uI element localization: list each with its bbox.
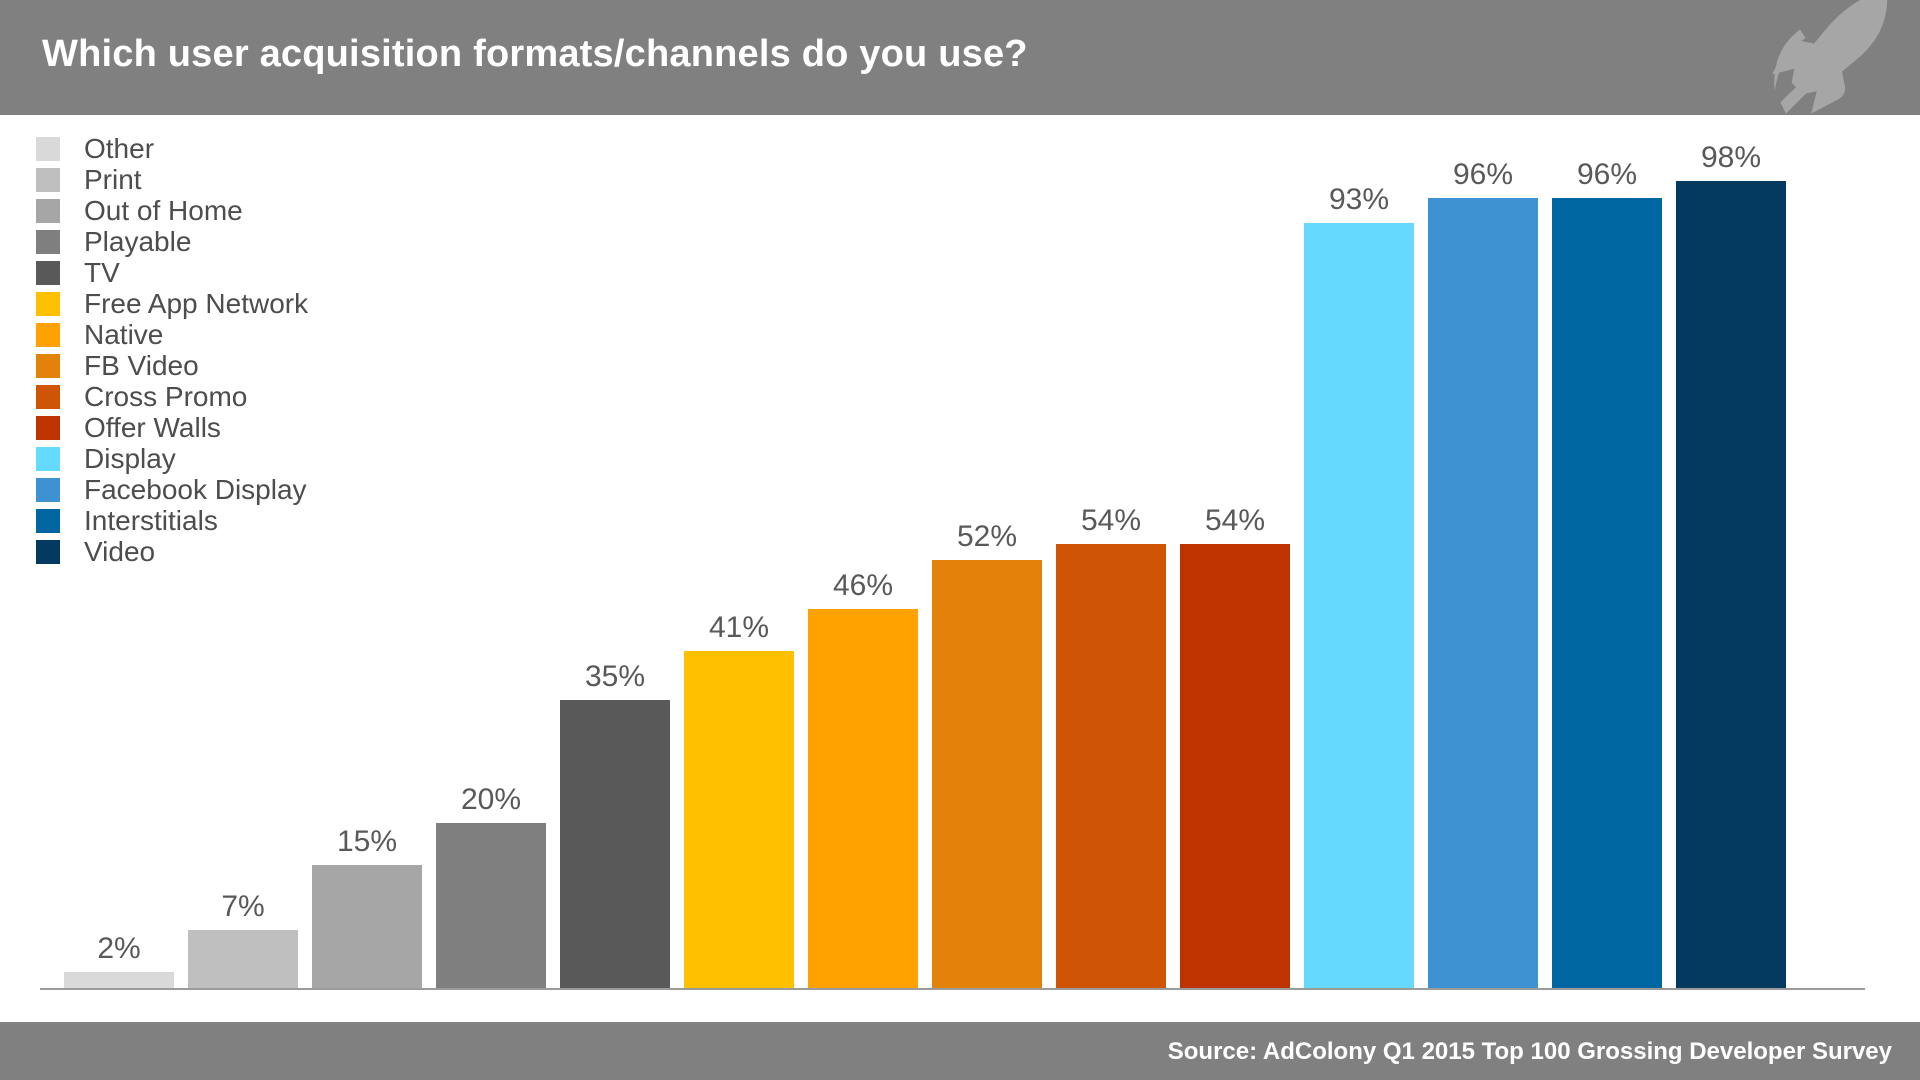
bar-video[interactable] <box>1676 181 1786 988</box>
bar-fb-video[interactable] <box>932 560 1042 988</box>
legend-item-other[interactable]: Other <box>36 133 456 164</box>
rocket-icon <box>1758 0 1898 115</box>
legend-swatch-icon <box>36 416 60 440</box>
bar-native[interactable] <box>808 609 918 988</box>
legend-item-label: Print <box>84 164 142 195</box>
bar-value-label-other: 2% <box>64 932 174 966</box>
bar-display[interactable] <box>1304 223 1414 988</box>
legend-item-out-of-home[interactable]: Out of Home <box>36 195 456 226</box>
legend-item-label: TV <box>84 257 120 288</box>
page-title: Which user acquisition formats/channels … <box>42 33 1028 76</box>
legend-item-tv[interactable]: TV <box>36 257 456 288</box>
bar-value-label-print: 7% <box>188 890 298 924</box>
legend-item-fb-video[interactable]: FB Video <box>36 350 456 381</box>
bar-value-label-playable: 20% <box>436 783 546 817</box>
legend-item-label: Facebook Display <box>84 474 307 505</box>
legend-item-label: Cross Promo <box>84 381 247 412</box>
chart-plot-area: Other Print Out of Home Playable TV Free… <box>0 115 1920 1022</box>
bar-value-label-offer-walls: 54% <box>1180 504 1290 538</box>
legend-swatch-icon <box>36 137 60 161</box>
bar-cross-promo[interactable] <box>1056 544 1166 988</box>
bar-value-label-free-app-network: 41% <box>684 611 794 645</box>
bar-value-label-video: 98% <box>1676 141 1786 175</box>
bar-value-label-interstitials: 96% <box>1552 158 1662 192</box>
legend-swatch-icon <box>36 478 60 502</box>
legend-item-playable[interactable]: Playable <box>36 226 456 257</box>
legend-item-label: Display <box>84 443 176 474</box>
bar-value-label-display: 93% <box>1304 183 1414 217</box>
chart-legend: Other Print Out of Home Playable TV Free… <box>36 133 456 567</box>
legend-item-cross-promo[interactable]: Cross Promo <box>36 381 456 412</box>
legend-item-offer-walls[interactable]: Offer Walls <box>36 412 456 443</box>
legend-item-video[interactable]: Video <box>36 536 456 567</box>
legend-item-native[interactable]: Native <box>36 319 456 350</box>
legend-swatch-icon <box>36 261 60 285</box>
bar-value-label-out-of-home: 15% <box>312 825 422 859</box>
chart-baseline <box>40 988 1865 990</box>
legend-item-label: Free App Network <box>84 288 308 319</box>
legend-swatch-icon <box>36 540 60 564</box>
legend-item-label: Video <box>84 536 155 567</box>
bar-offer-walls[interactable] <box>1180 544 1290 988</box>
legend-swatch-icon <box>36 354 60 378</box>
bar-value-label-facebook-display: 96% <box>1428 158 1538 192</box>
bar-interstitials[interactable] <box>1552 198 1662 988</box>
legend-item-label: Out of Home <box>84 195 243 226</box>
legend-item-display[interactable]: Display <box>36 443 456 474</box>
legend-swatch-icon <box>36 199 60 223</box>
bar-playable[interactable] <box>436 823 546 988</box>
slide-canvas: Which user acquisition formats/channels … <box>0 0 1920 1080</box>
legend-item-print[interactable]: Print <box>36 164 456 195</box>
bar-out-of-home[interactable] <box>312 865 422 988</box>
legend-item-label: Native <box>84 319 163 350</box>
legend-swatch-icon <box>36 292 60 316</box>
bar-free-app-network[interactable] <box>684 651 794 988</box>
legend-item-label: Interstitials <box>84 505 218 536</box>
legend-item-free-app-network[interactable]: Free App Network <box>36 288 456 319</box>
bar-tv[interactable] <box>560 700 670 988</box>
slide-header: Which user acquisition formats/channels … <box>0 0 1920 115</box>
legend-item-label: Playable <box>84 226 191 257</box>
legend-swatch-icon <box>36 385 60 409</box>
bar-other[interactable] <box>64 972 174 988</box>
slide-footer: Source: AdColony Q1 2015 Top 100 Grossin… <box>0 1022 1920 1080</box>
legend-swatch-icon <box>36 323 60 347</box>
legend-item-interstitials[interactable]: Interstitials <box>36 505 456 536</box>
bar-value-label-fb-video: 52% <box>932 520 1042 554</box>
bar-value-label-native: 46% <box>808 569 918 603</box>
legend-item-label: FB Video <box>84 350 199 381</box>
legend-swatch-icon <box>36 168 60 192</box>
legend-swatch-icon <box>36 230 60 254</box>
source-caption: Source: AdColony Q1 2015 Top 100 Grossin… <box>1168 1038 1892 1066</box>
bar-value-label-cross-promo: 54% <box>1056 504 1166 538</box>
legend-swatch-icon <box>36 509 60 533</box>
bar-print[interactable] <box>188 930 298 988</box>
legend-swatch-icon <box>36 447 60 471</box>
legend-item-facebook-display[interactable]: Facebook Display <box>36 474 456 505</box>
bar-facebook-display[interactable] <box>1428 198 1538 988</box>
bar-value-label-tv: 35% <box>560 660 670 694</box>
legend-item-label: Offer Walls <box>84 412 221 443</box>
legend-item-label: Other <box>84 133 154 164</box>
